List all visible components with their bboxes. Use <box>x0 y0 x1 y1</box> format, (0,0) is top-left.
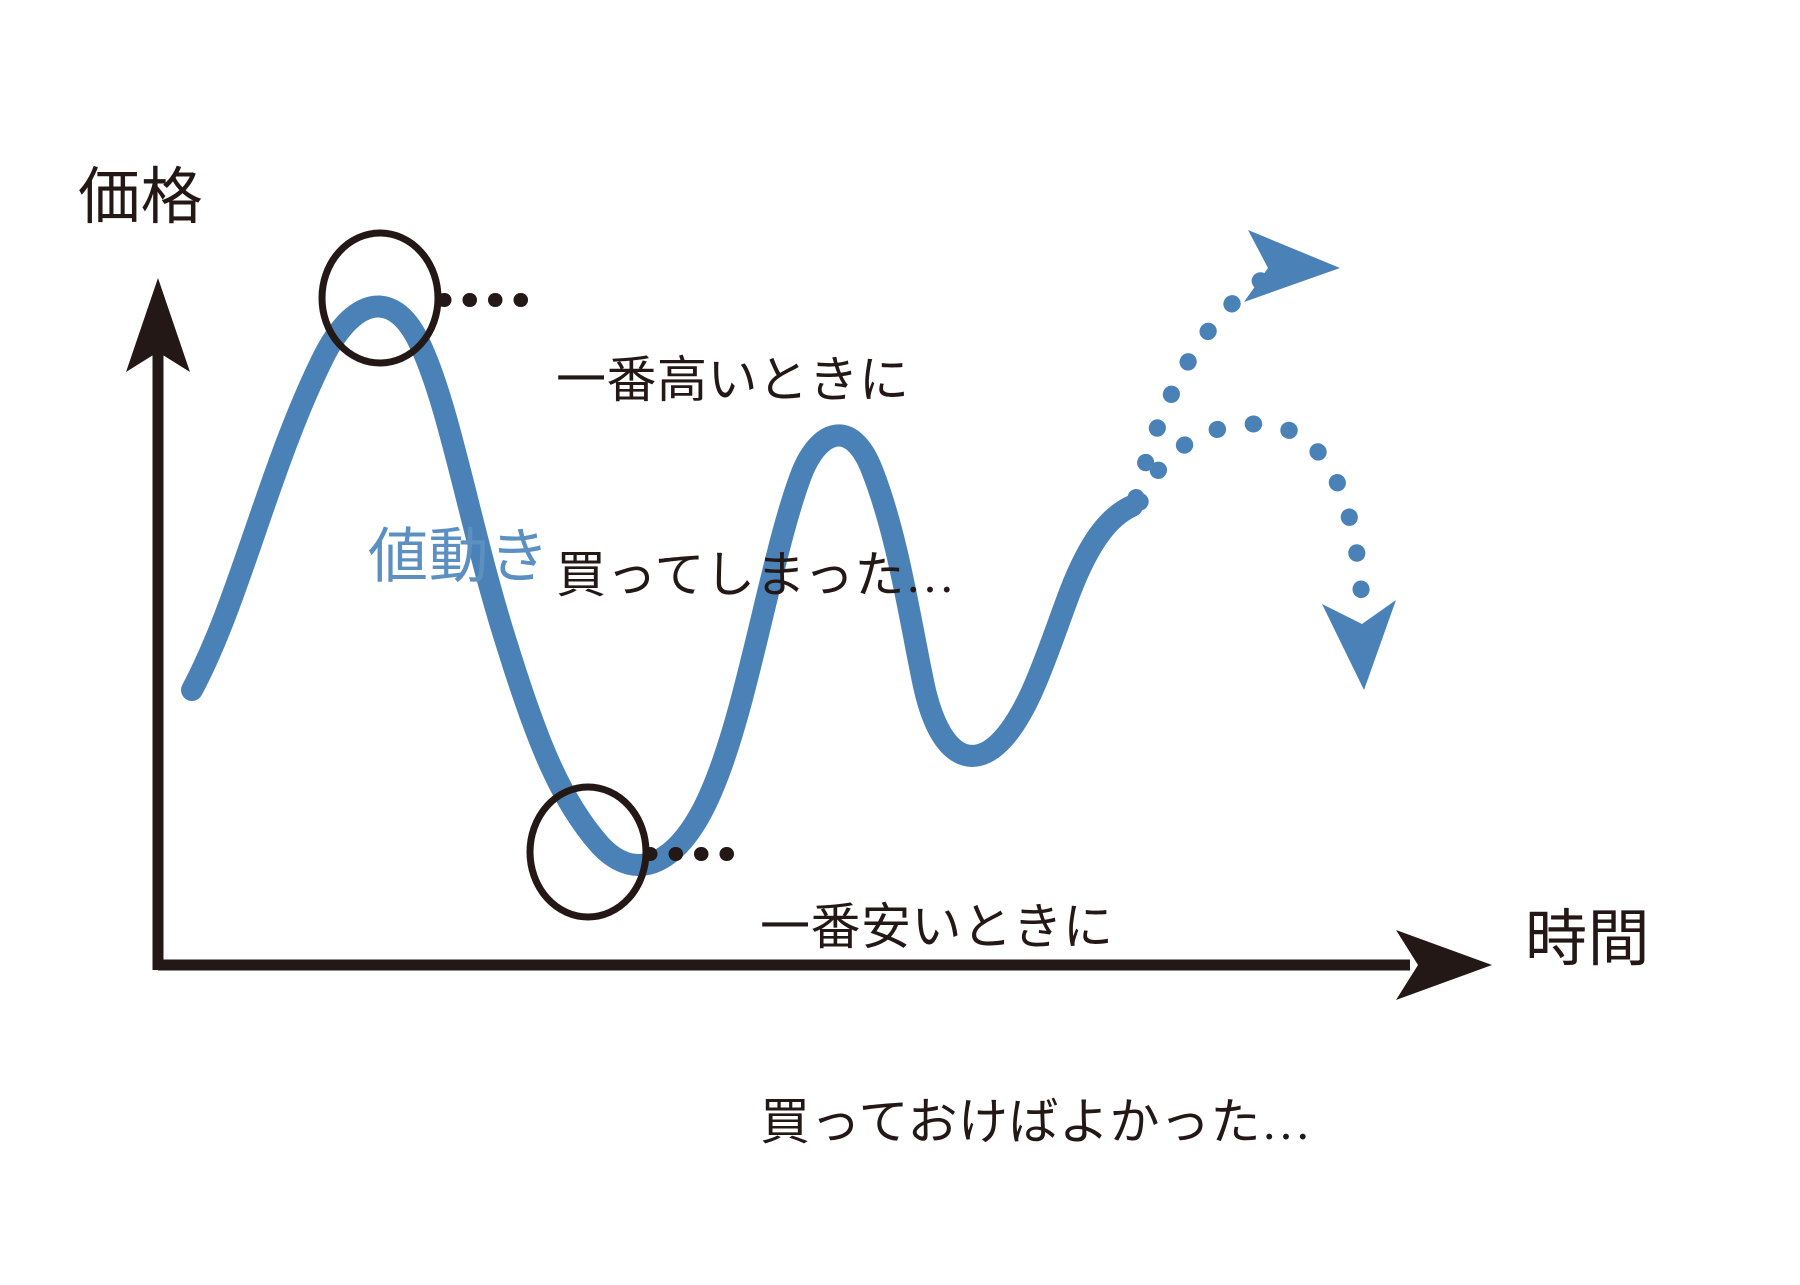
figure-canvas: 価格 時間 値動き 一番高いときに 買ってしまった… 一番安いときに 買っておけ… <box>0 0 1800 1238</box>
series-label: 値動き <box>368 518 550 596</box>
annotation-peak-line-2: 買ってしまった… <box>556 543 956 608</box>
annotation-trough-line-1: 一番安いときに <box>760 895 1312 960</box>
x-axis-label: 時間 <box>1525 900 1650 981</box>
forecast-down-branch <box>1140 424 1396 690</box>
annotation-peak: 一番高いときに 買ってしまった… <box>556 218 956 738</box>
circle-highlight-icon <box>530 787 646 917</box>
forecast-up-branch <box>1136 230 1340 498</box>
dotted-arrow-down-icon <box>1322 600 1396 690</box>
arrow-right-icon <box>1396 930 1492 1000</box>
annotation-peak-line-1: 一番高いときに <box>556 348 956 413</box>
y-axis-label: 価格 <box>78 158 203 239</box>
y-axis <box>126 278 190 970</box>
dotted-arrow-down-path <box>1140 424 1362 616</box>
annotation-trough-line-2: 買っておけばよかった… <box>760 1090 1312 1155</box>
annotation-trough: 一番安いときに 買っておけばよかった… <box>760 765 1312 1285</box>
dotted-arrow-up-icon <box>1244 230 1340 302</box>
